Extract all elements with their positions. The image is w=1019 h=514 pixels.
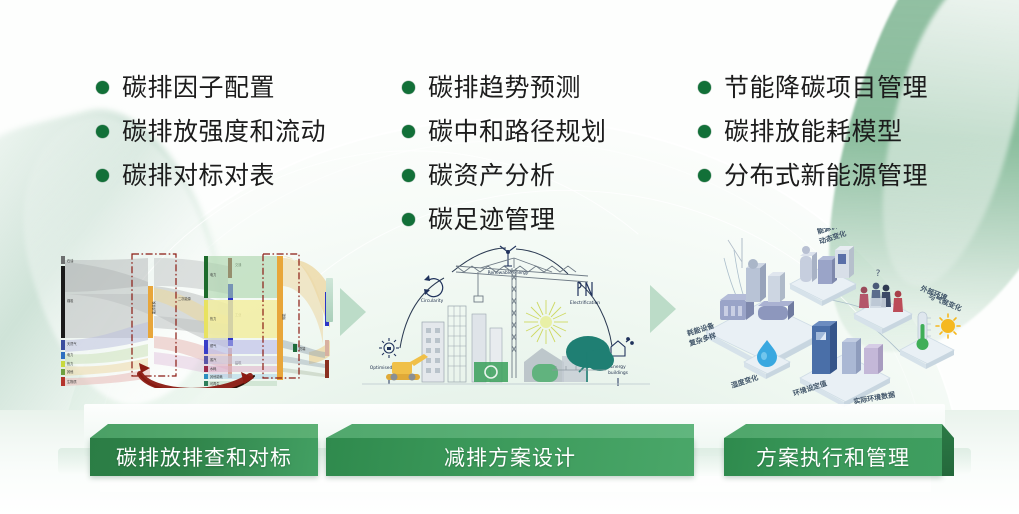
optimised-design-icon [379, 338, 399, 358]
circularity-icon [424, 275, 443, 297]
bullet-label: 碳排对标对表 [122, 163, 275, 188]
svg-text:用能: 用能 [281, 313, 286, 320]
arrow-separator-stub [326, 278, 333, 322]
bullet-dot-icon [402, 213, 415, 226]
svg-text:电力: 电力 [210, 272, 216, 277]
svg-text:煤炭: 煤炭 [67, 298, 74, 303]
bullet-label: 碳资产分析 [428, 163, 556, 188]
bullet-label: 碳排放强度和流动 [122, 119, 326, 144]
svg-text:蒸汽: 蒸汽 [210, 357, 217, 362]
decarbonisation-illustration-svg: Renewable energy Circularity Electrifica… [356, 244, 656, 402]
bullet-label: 碳中和路径规划 [428, 119, 607, 144]
svg-text:生物质: 生物质 [67, 379, 77, 384]
sankey-right: 电力 热力 燃气 蒸汽 水耗 其他能耗 可再生 用能 终端 工业 建筑 交通 [204, 254, 330, 386]
bullet-item[interactable]: 碳排因子配置 [96, 72, 396, 103]
label-energy-buildings-2: buildings [608, 370, 629, 376]
bullet-dot-icon [96, 169, 109, 182]
energy-management-illustration-svg: 耗能设备 复杂多样 [672, 228, 974, 408]
svg-text:终端: 终端 [299, 346, 306, 351]
svg-text:其他: 其他 [67, 369, 74, 374]
bullet-item[interactable]: 碳中和路径规划 [402, 116, 698, 147]
energy-buildings-icon [611, 338, 633, 356]
bullet-label: 分布式新能源管理 [724, 163, 928, 188]
energy-management-illustration-panel: 耗能设备 复杂多样 [672, 228, 974, 408]
label-electrification: Electrification [570, 300, 600, 306]
stage-bar-label: 碳排放排查和对标 [116, 442, 292, 472]
bullet-dot-icon [96, 125, 109, 138]
feature-columns: 碳排因子配置 碳排放强度和流动 碳排对标对表 碳排趋势预测 碳中和路径规划 [0, 0, 1019, 248]
infographic-root: 碳排因子配置 碳排放强度和流动 碳排对标对表 碳排趋势预测 碳中和路径规划 [0, 0, 1019, 514]
bullet-dot-icon [402, 125, 415, 138]
platform-people: ? [854, 269, 912, 334]
platform-external-env [900, 312, 960, 369]
bullet-dot-icon [96, 81, 109, 94]
feature-column-execution-management: 节能降碳项目管理 碳排放能耗模型 分布式新能源管理 [698, 72, 988, 248]
svg-text:电力: 电力 [67, 352, 73, 357]
decarbonisation-illustration-panel: Renewable energy Circularity Electrifica… [356, 244, 656, 402]
bullet-label: 碳排放能耗模型 [724, 119, 903, 144]
stage-bar-emission-inventory[interactable]: 碳排放排查和对标 [90, 438, 318, 476]
svg-text:二次能源: 二次能源 [178, 296, 192, 301]
bullet-dot-icon [698, 169, 711, 182]
bullet-label: 碳足迹管理 [428, 207, 556, 232]
question-mark-icon: ? [876, 269, 881, 279]
bullet-item[interactable]: 碳排放强度和流动 [96, 116, 396, 147]
bullet-item[interactable]: 碳足迹管理 [402, 204, 698, 235]
label-energy-buildings: Energy [610, 364, 626, 370]
feature-column-emission-inventory: 碳排因子配置 碳排放强度和流动 碳排对标对表 [96, 72, 396, 248]
svg-text:石油: 石油 [67, 258, 73, 263]
stage-bar-label: 减排方案设计 [444, 442, 576, 472]
bullet-label: 碳排趋势预测 [428, 75, 581, 100]
bullet-item[interactable]: 分布式新能源管理 [698, 160, 988, 191]
bullet-dot-icon [402, 81, 415, 94]
bullet-item[interactable]: 碳排放能耗模型 [698, 116, 988, 147]
bullet-item[interactable]: 碳排对标对表 [96, 160, 396, 191]
feature-column-reduction-design: 碳排趋势预测 碳中和路径规划 碳资产分析 碳足迹管理 [402, 72, 698, 248]
stage-bar-execution-management[interactable]: 方案执行和管理 [724, 438, 942, 476]
platform-energy-price [790, 246, 856, 306]
bullet-item[interactable]: 节能降碳项目管理 [698, 72, 988, 103]
svg-text:水耗: 水耗 [210, 366, 217, 371]
label-circularity: Circularity [421, 298, 444, 304]
bullet-dot-icon [698, 125, 711, 138]
svg-text:燃气: 燃气 [210, 343, 217, 348]
sankey-diagram-svg: 石油 煤炭 天然气 电力 热力 其他 生物质 能源转换 交通 工业 建筑 二次能… [58, 252, 330, 388]
bullet-label: 节能降碳项目管理 [724, 75, 928, 100]
stage-bars: 碳排放排查和对标 减排方案设计 方案执行和管理 [0, 424, 1019, 484]
stage-bar-reduction-design[interactable]: 减排方案设计 [326, 438, 694, 476]
svg-text:热力: 热力 [210, 316, 216, 321]
svg-text:热力: 热力 [67, 361, 73, 366]
bullet-label: 碳排因子配置 [122, 75, 275, 100]
label-humidity: 湿度变化 [730, 373, 759, 390]
bullet-item[interactable]: 碳资产分析 [402, 160, 698, 191]
svg-text:天然气: 天然气 [67, 341, 77, 346]
sun-burst-icon [524, 300, 568, 344]
bullet-item[interactable]: 碳排趋势预测 [402, 72, 698, 103]
bullet-dot-icon [402, 169, 415, 182]
stage-bar-label: 方案执行和管理 [756, 442, 910, 472]
svg-text:能源转换: 能源转换 [151, 300, 156, 314]
svg-text:其他能耗: 其他能耗 [210, 374, 224, 379]
bullet-dot-icon [698, 81, 711, 94]
sun-icon [936, 314, 960, 338]
sankey-diagram-panel: 石油 煤炭 天然气 电力 热力 其他 生物质 能源转换 交通 工业 建筑 二次能… [58, 252, 330, 388]
